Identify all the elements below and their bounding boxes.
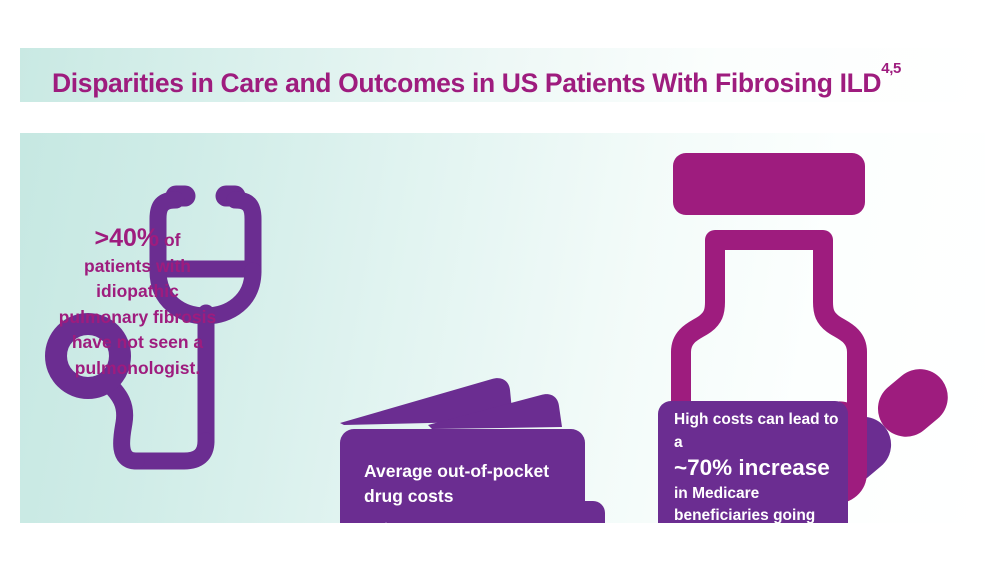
- stethoscope-stat-highlight: >40%: [94, 224, 159, 252]
- page-title-text: Disparities in Care and Outcomes in US P…: [52, 68, 881, 98]
- bottle-stat-line1: High costs can lead to a: [674, 411, 839, 451]
- page-title: Disparities in Care and Outcomes in US P…: [52, 58, 972, 98]
- infographic-root: Disparities in Care and Outcomes in US P…: [0, 0, 1000, 563]
- wallet-stat-highlight: >$4,700: [364, 519, 564, 523]
- bottle-stat-line2: in Medicare: [674, 485, 759, 502]
- bottle-stat-line3: beneficiaries going: [674, 507, 815, 523]
- bottle-stat-text: High costs can lead to a ~70% increase i…: [674, 409, 846, 523]
- wallet-stat-label: Average out-of-pocket drug costs: [364, 459, 564, 509]
- bottle-stat-highlight1: ~70% increase: [674, 454, 830, 481]
- stethoscope-stat-of: of: [164, 230, 181, 250]
- page-title-superscript: 4,5: [881, 60, 901, 77]
- stethoscope-stat-body: patients with idiopathic pulmonary fibro…: [59, 256, 217, 378]
- stethoscope-stat-lead: >40% of: [50, 226, 225, 254]
- content-panel: >40% of patients with idiopathic pulmona…: [20, 133, 985, 523]
- wallet-stat-text: Average out-of-pocket drug costs >$4,700…: [364, 459, 564, 523]
- stethoscope-stat-text: >40% of patients with idiopathic pulmona…: [50, 226, 225, 381]
